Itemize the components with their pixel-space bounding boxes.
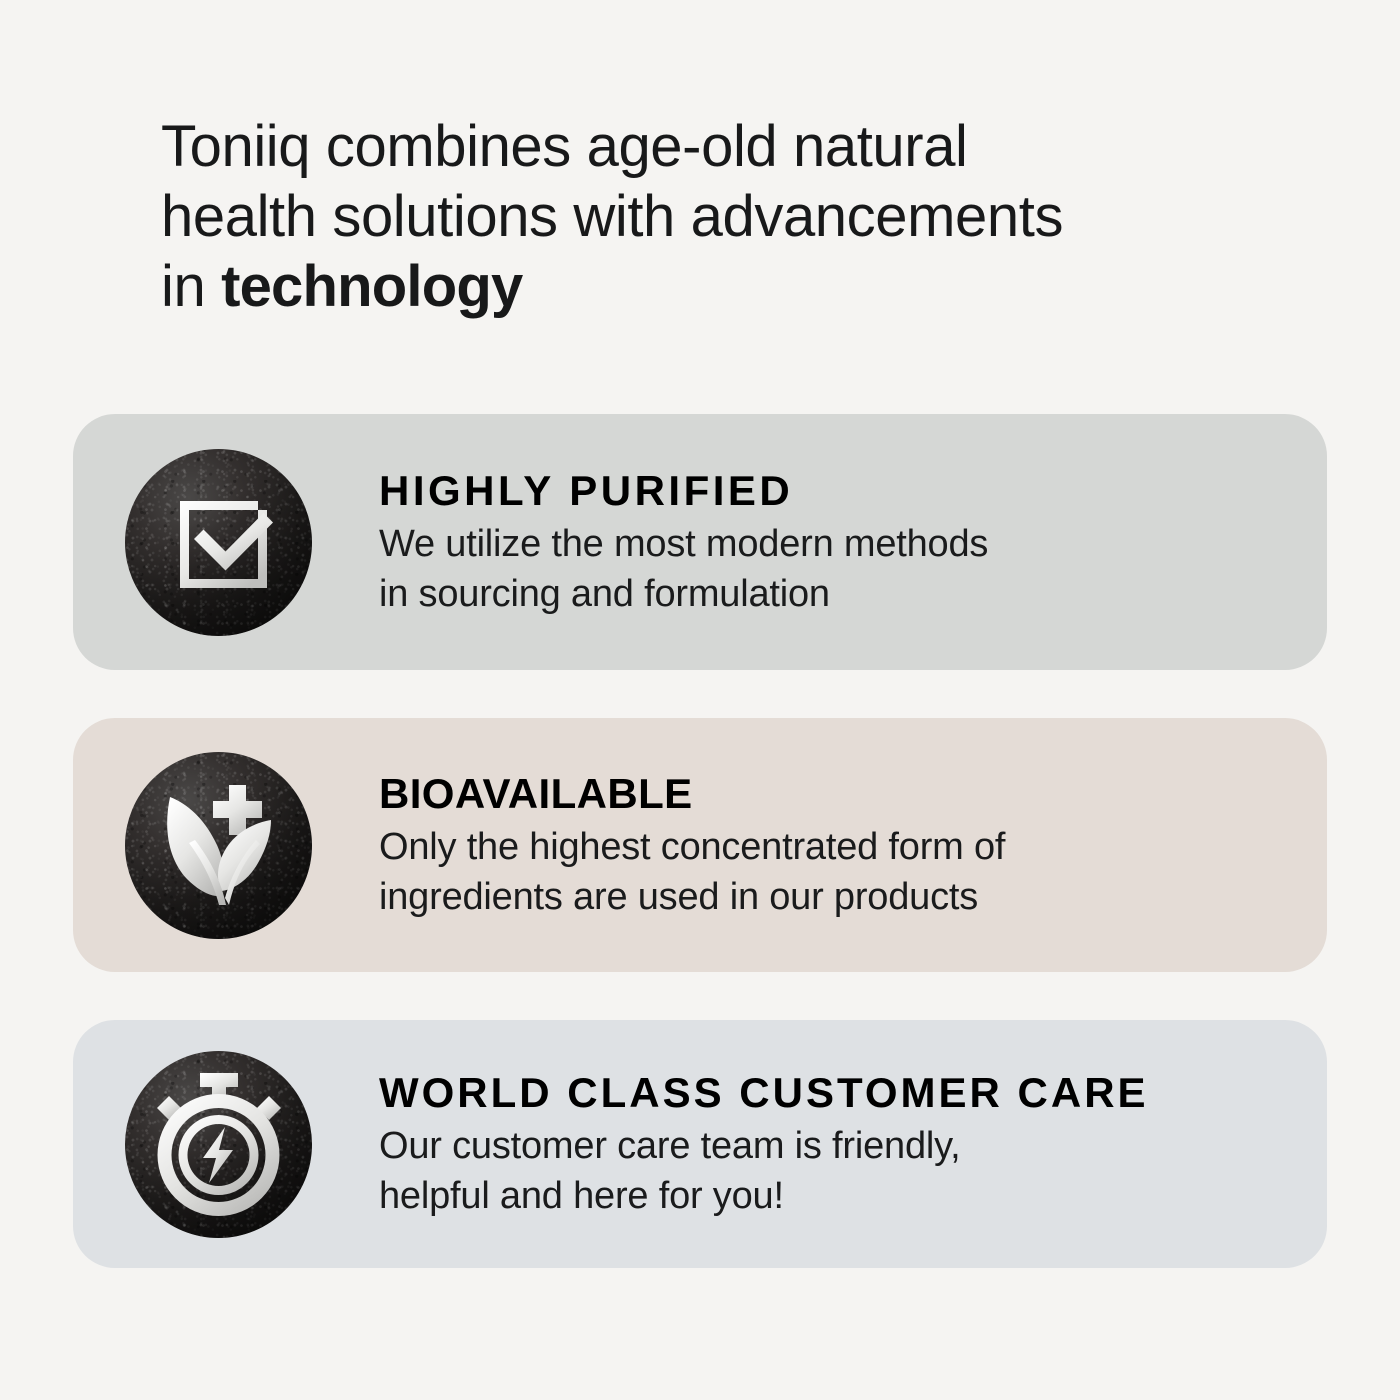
checkbox-check-icon	[125, 449, 312, 636]
benefit-description-line-1: We utilize the most modern methods	[379, 519, 1287, 569]
benefit-description-line-2: in sourcing and formulation	[379, 569, 1287, 619]
page-title: Toniiq combines age-old natural health s…	[161, 112, 1171, 322]
benefit-card-list: HIGHLY PURIFIED We utilize the most mode…	[73, 414, 1327, 1268]
benefit-card-text: BIOAVAILABLE Only the highest concentrat…	[379, 769, 1327, 922]
benefit-description: Our customer care team is friendly, help…	[379, 1121, 1287, 1221]
benefit-title: HIGHLY PURIFIED	[379, 466, 1287, 516]
benefit-description-line-1: Our customer care team is friendly,	[379, 1121, 1287, 1171]
benefit-description: Only the highest concentrated form of in…	[379, 822, 1287, 922]
benefit-description: We utilize the most modern methods in so…	[379, 519, 1287, 619]
benefit-description-line-2: ingredients are used in our products	[379, 872, 1287, 922]
benefit-card-customer-care: WORLD CLASS CUSTOMER CARE Our customer c…	[73, 1020, 1327, 1268]
benefit-card-text: HIGHLY PURIFIED We utilize the most mode…	[379, 466, 1327, 619]
benefits-graphic: Toniiq combines age-old natural health s…	[0, 0, 1400, 1400]
headline-line-2: health solutions with advancements	[161, 182, 1171, 252]
benefit-card-text: WORLD CLASS CUSTOMER CARE Our customer c…	[379, 1068, 1327, 1221]
benefit-description-line-2: helpful and here for you!	[379, 1171, 1287, 1221]
stopwatch-bolt-icon	[125, 1051, 312, 1238]
headline-emphasis: technology	[221, 254, 522, 319]
headline-line-3-prefix: in	[161, 254, 221, 319]
benefit-title: BIOAVAILABLE	[379, 769, 1287, 819]
benefit-card-highly-purified: HIGHLY PURIFIED We utilize the most mode…	[73, 414, 1327, 670]
benefit-title: WORLD CLASS CUSTOMER CARE	[379, 1068, 1287, 1118]
benefit-card-bioavailable: BIOAVAILABLE Only the highest concentrat…	[73, 718, 1327, 972]
headline-line-1: Toniiq combines age-old natural	[161, 112, 1171, 182]
headline-line-3: in technology	[161, 252, 1171, 322]
leaf-plus-icon	[125, 752, 312, 939]
benefit-description-line-1: Only the highest concentrated form of	[379, 822, 1287, 872]
